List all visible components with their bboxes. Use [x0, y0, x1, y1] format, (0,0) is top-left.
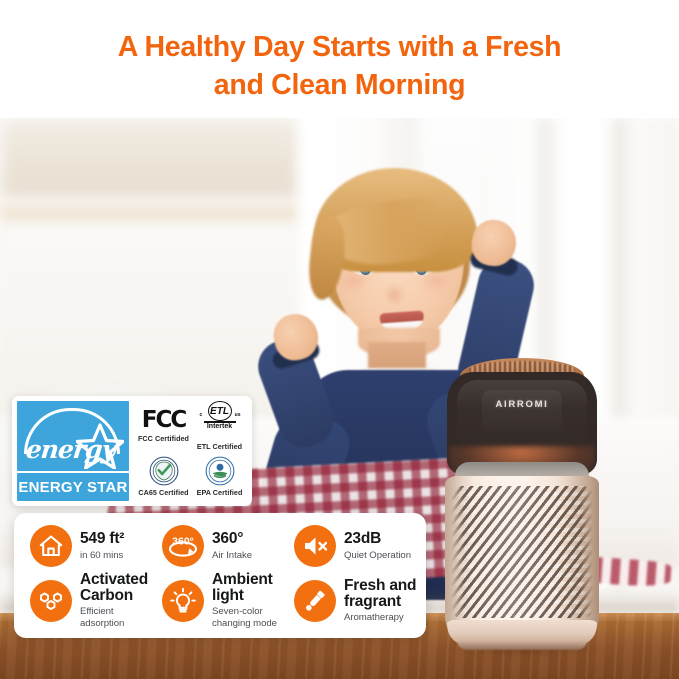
feature-title: 549 ft²	[80, 531, 124, 547]
star-icon	[76, 423, 124, 469]
feature-title: Fresh and fragrant	[344, 578, 416, 610]
energy-star-wordmark-text: ENERGY STAR	[18, 479, 127, 496]
feature-subtitle: in 60 mins	[80, 550, 124, 561]
etl-c-mark: c	[200, 412, 203, 418]
cert-caption-epa: EPA Certified	[197, 488, 243, 497]
feature-air-intake: 360° 360° Air Intake	[162, 522, 290, 570]
feature-title: Activated Carbon	[80, 572, 158, 604]
nose	[386, 282, 406, 304]
feature-title: Ambient light	[212, 572, 277, 604]
product-banner: A Healthy Day Starts with a Fresh and Cl…	[0, 0, 679, 679]
etl-mark-icon: ETL c us Intertek	[197, 401, 243, 431]
cert-item-epa: EPA Certified	[192, 452, 247, 501]
product-foot	[457, 640, 587, 650]
certification-grid: FCC FCC Certifided ETL c us Intertek ETL…	[133, 401, 247, 501]
feature-activated-carbon: Activated Carbon Efficient adsorption	[30, 572, 158, 629]
speaker-mute-icon	[294, 525, 336, 567]
cert-item-ca65: CA65 Certified	[136, 452, 191, 501]
rotation-360-icon: 360°	[162, 525, 204, 567]
feature-noise-level: 23dB Quiet Operation	[294, 522, 422, 570]
etl-intertek-label: Intertek	[197, 423, 243, 430]
energy-star-graphic: energy	[17, 401, 129, 471]
feature-title: 23dB	[344, 531, 411, 547]
cert-item-etl: ETL c us Intertek ETL Certified	[192, 401, 247, 451]
brand-logo: AIRROMI	[441, 399, 603, 410]
certification-panel: energy ENERGY STAR FCC FCC Certifided ET…	[12, 396, 252, 506]
air-purifier-product: AIRROMI	[441, 358, 603, 650]
page-title: A Healthy Day Starts with a Fresh and Cl…	[0, 28, 679, 104]
dropper-icon	[294, 580, 336, 622]
house-icon	[30, 525, 72, 567]
product-logo-plate	[482, 390, 562, 432]
energy-star-wordmark: ENERGY STAR	[17, 473, 129, 501]
feature-subtitle: Seven-color changing mode	[212, 606, 277, 629]
etl-circle-text: ETL	[208, 401, 232, 421]
cert-caption-fcc: FCC Certifided	[138, 434, 189, 443]
feature-coverage-area: 549 ft² in 60 mins	[30, 522, 158, 570]
headline-line-2: and Clean Morning	[40, 66, 639, 104]
product-mesh-grille	[451, 486, 593, 618]
feature-subtitle: Aromatherapy	[344, 612, 416, 623]
cert-caption-ca65: CA65 Certified	[138, 488, 188, 497]
feature-title: 360°	[212, 531, 252, 547]
feature-subtitle: Quiet Operation	[344, 550, 411, 561]
honeycomb-carbon-icon	[30, 580, 72, 622]
feature-ambient-light: Ambient light Seven-color changing mode	[162, 572, 290, 629]
rotation-360-icon-text: 360°	[172, 536, 194, 548]
feature-subtitle: Efficient adsorption	[80, 606, 158, 629]
epa-seal-icon	[205, 456, 235, 486]
etl-us-mark: us	[235, 412, 241, 418]
lightbulb-icon	[162, 580, 204, 622]
cert-caption-etl: ETL Certified	[197, 442, 242, 451]
ca65-seal-icon	[149, 456, 179, 486]
feature-panel: 549 ft² in 60 mins 360° 360° Air Intake	[14, 513, 426, 638]
headline-line-1: A Healthy Day Starts with a Fresh	[40, 28, 639, 66]
cert-item-fcc: FCC FCC Certifided	[136, 401, 191, 451]
energy-star-badge: energy ENERGY STAR	[17, 401, 129, 501]
fcc-mark-icon: FCC	[142, 409, 185, 432]
feature-aromatherapy: Fresh and fragrant Aromatherapy	[294, 572, 422, 629]
feature-subtitle: Air Intake	[212, 550, 252, 561]
